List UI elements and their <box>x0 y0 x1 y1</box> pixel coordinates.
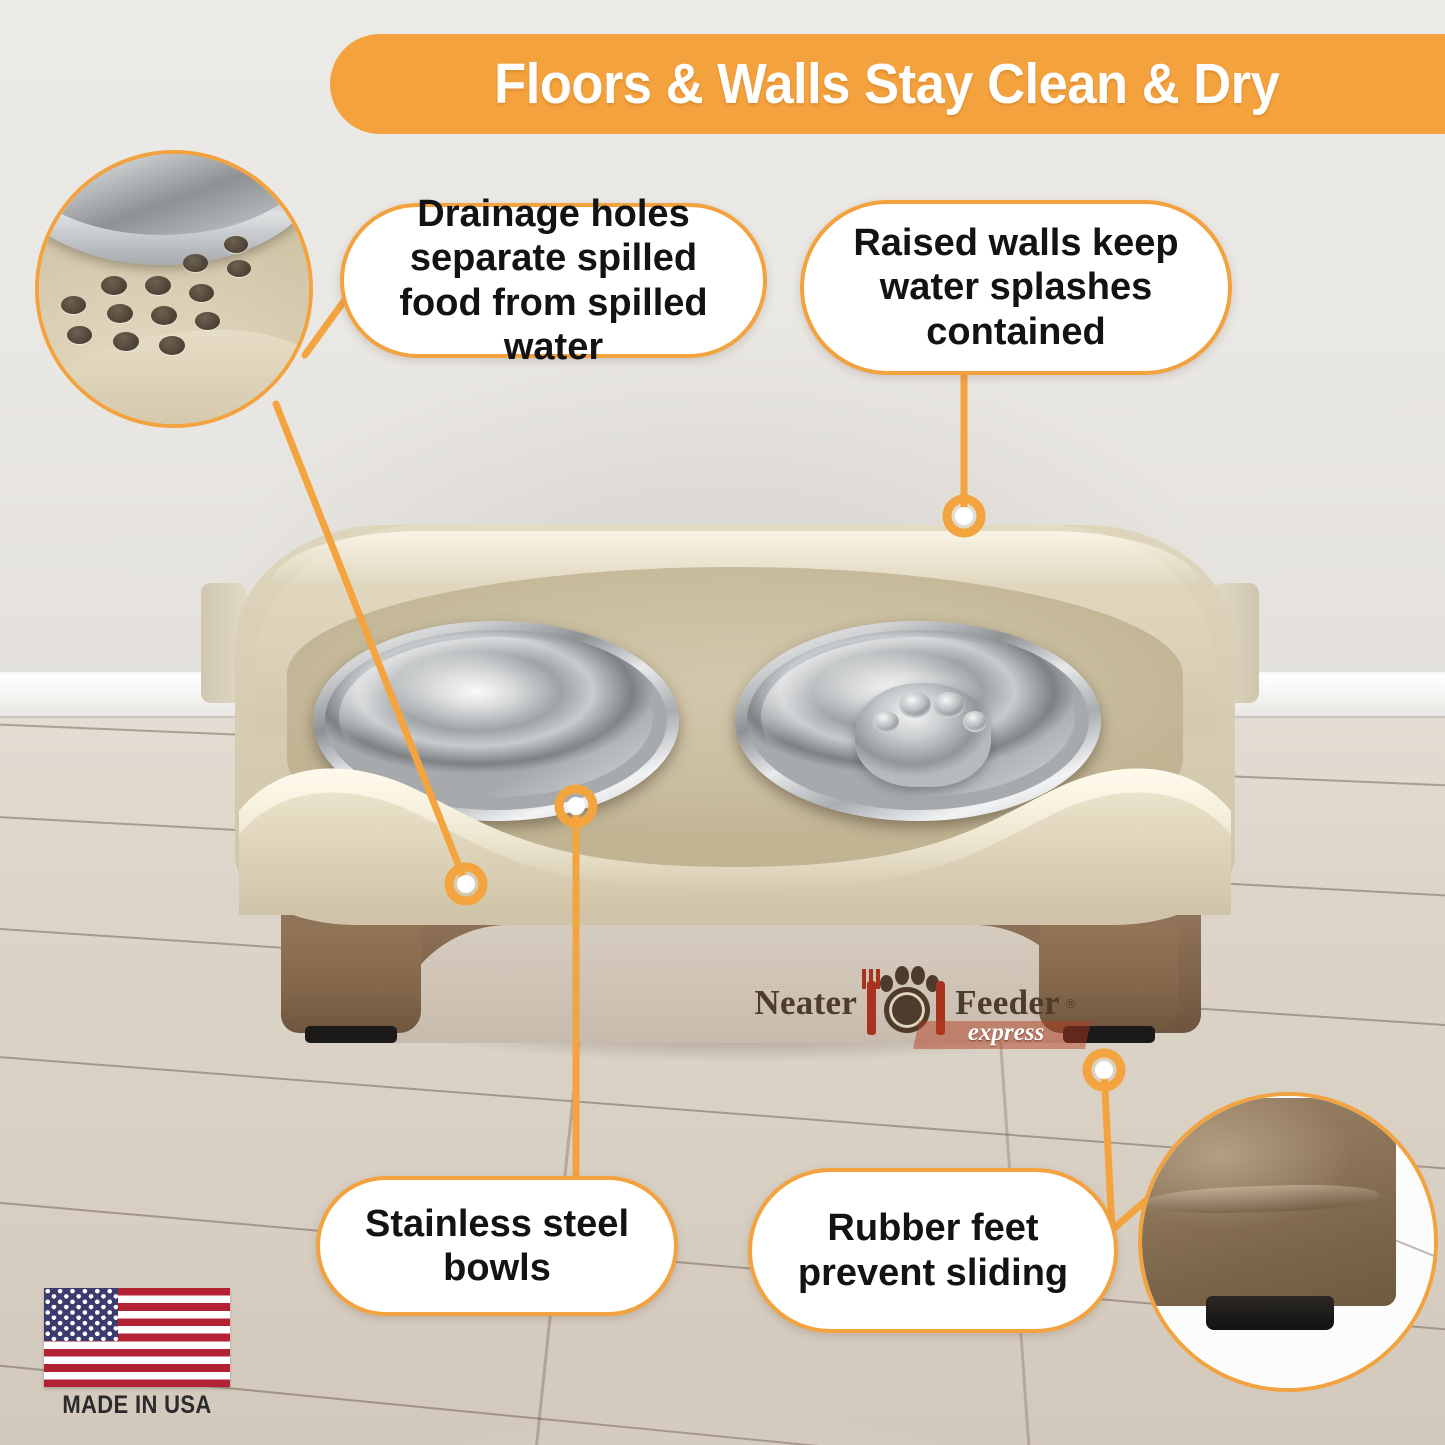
callout-drainage-holes-label: Drainage holes separate spilled food fro… <box>344 192 763 370</box>
rubber-foot-left <box>305 1026 397 1043</box>
rubber-foot-inset <box>1138 1092 1438 1392</box>
callout-rubber-feet: Rubber feet prevent sliding <box>748 1168 1118 1333</box>
product-infographic-scene: Neater Feeder® express <box>0 0 1445 1445</box>
us-flag-icon <box>44 1288 230 1387</box>
callout-raised-walls-label: Raised walls keep water splashes contain… <box>804 221 1228 354</box>
made-in-usa-badge: MADE IN USA <box>44 1288 230 1420</box>
registered-mark: ® <box>1066 996 1076 1011</box>
logo-word-neater: Neater <box>754 983 857 1023</box>
header-banner: Floors & Walls Stay Clean & Dry <box>330 34 1445 134</box>
brand-logo: Neater Feeder® express <box>720 967 1110 1053</box>
callout-raised-walls: Raised walls keep water splashes contain… <box>800 200 1232 375</box>
pet-feeder-product: Neater Feeder® express <box>195 455 1265 1075</box>
flag-stars <box>44 1288 118 1341</box>
drainage-holes-inset <box>35 150 313 428</box>
rubber-foot-pad-closeup <box>1206 1296 1334 1330</box>
callout-rubber-feet-label: Rubber feet prevent sliding <box>752 1206 1114 1295</box>
feeder-front-rail <box>239 755 1231 915</box>
flag-canton <box>44 1288 118 1341</box>
logo-word-feeder: Feeder <box>955 983 1060 1023</box>
fork-icon <box>867 981 876 1035</box>
feeder-leg-left <box>281 925 421 1033</box>
callout-stainless-bowls-label: Stainless steel bowls <box>320 1202 674 1291</box>
made-in-usa-label: MADE IN USA <box>55 1391 219 1420</box>
logo-word-express: express <box>926 1019 1086 1047</box>
callout-stainless-bowls: Stainless steel bowls <box>316 1176 678 1316</box>
feeder-leg-closeup <box>1138 1098 1396 1306</box>
callout-drainage-holes: Drainage holes separate spilled food fro… <box>340 203 767 358</box>
banner-title: Floors & Walls Stay Clean & Dry <box>494 51 1279 117</box>
